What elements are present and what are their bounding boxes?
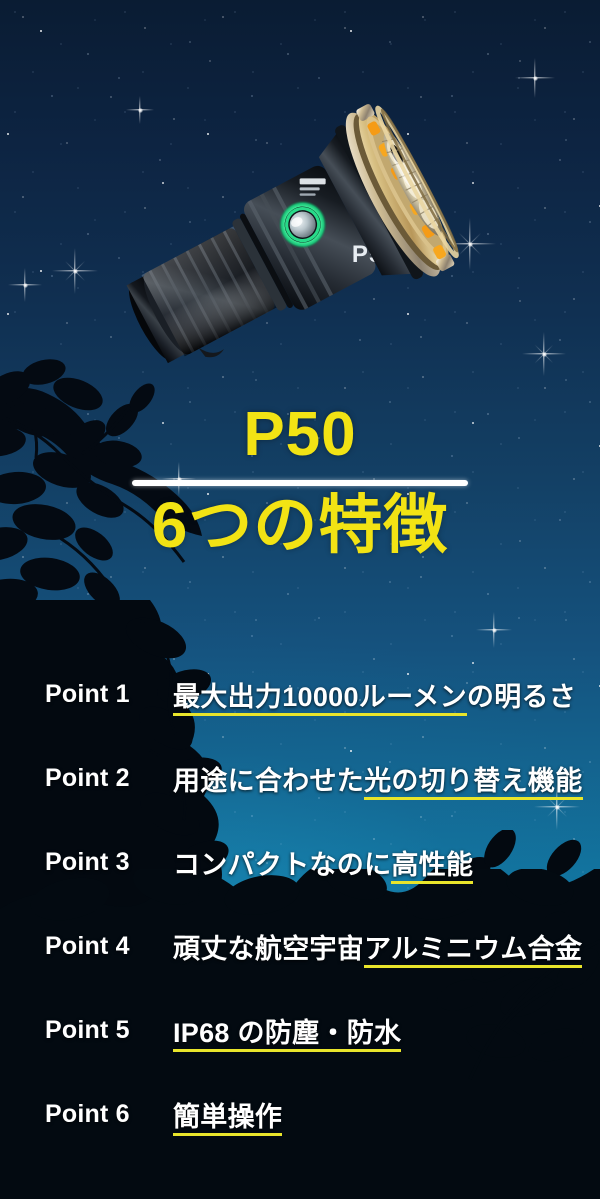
title-block: P50 6つの特徴 bbox=[0, 404, 600, 559]
point-text: IP68 の防塵・防水 bbox=[173, 1011, 401, 1050]
point-text-underlined: 光の切り替え機能 bbox=[364, 766, 582, 800]
page-title: P50 bbox=[0, 404, 600, 466]
list-item: Point 2 用途に合わせた光の切り替え機能 bbox=[0, 736, 600, 820]
list-item: Point 1 最大出力10000ルーメンの明るさ bbox=[0, 652, 600, 736]
point-text: コンパクトなのに高性能 bbox=[173, 843, 473, 882]
point-label: Point 6 bbox=[45, 1100, 173, 1129]
point-label: Point 2 bbox=[45, 764, 173, 793]
point-text-before: 頑丈な航空宇宙 bbox=[173, 934, 364, 964]
point-text-underlined: IP68 の防塵・防水 bbox=[173, 1018, 401, 1052]
point-text: 簡単操作 bbox=[173, 1095, 282, 1134]
point-text-underlined: 高性能 bbox=[391, 850, 473, 884]
feature-point-list: Point 1 最大出力10000ルーメンの明るさ Point 2 用途に合わせ… bbox=[0, 652, 600, 1156]
point-label: Point 3 bbox=[45, 848, 173, 877]
point-text: 最大出力10000ルーメンの明るさ bbox=[173, 675, 576, 714]
list-item: Point 3 コンパクトなのに高性能 bbox=[0, 820, 600, 904]
point-text-underlined: アルミニウム合金 bbox=[364, 934, 582, 968]
point-text-before: 用途に合わせた bbox=[173, 766, 364, 796]
poster-canvas: P50 bbox=[0, 0, 600, 1199]
point-text-underlined: 最大出力10000ルーメン bbox=[173, 682, 467, 716]
list-item: Point 4 頑丈な航空宇宙アルミニウム合金 bbox=[0, 904, 600, 988]
point-text: 用途に合わせた光の切り替え機能 bbox=[173, 759, 583, 798]
list-item: Point 5 IP68 の防塵・防水 bbox=[0, 988, 600, 1072]
point-text: 頑丈な航空宇宙アルミニウム合金 bbox=[173, 927, 582, 966]
point-text-underlined: 簡単操作 bbox=[173, 1102, 282, 1136]
title-divider-rule bbox=[132, 480, 468, 486]
point-text-before: コンパクトなのに bbox=[173, 850, 391, 880]
list-item: Point 6 簡単操作 bbox=[0, 1072, 600, 1156]
point-label: Point 4 bbox=[45, 932, 173, 961]
page-subtitle: 6つの特徴 bbox=[0, 492, 600, 559]
point-label: Point 5 bbox=[45, 1016, 173, 1045]
point-label: Point 1 bbox=[45, 680, 173, 709]
point-text-after: の明るさ bbox=[467, 682, 576, 712]
